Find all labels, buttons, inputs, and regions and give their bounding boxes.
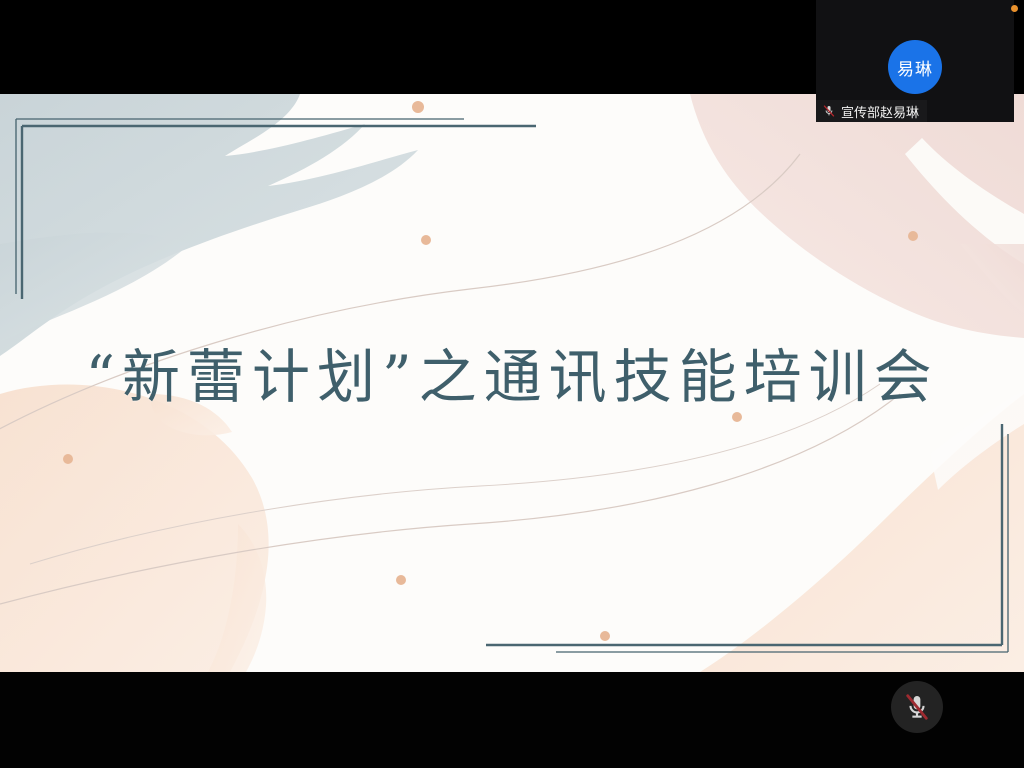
participant-video-tile[interactable]: 易琳 宣传部赵易琳: [816, 0, 1014, 122]
mic-off-icon: [822, 104, 836, 118]
conference-stage: “新蕾计划”之通讯技能培训会 易琳 宣传部赵易琳: [0, 0, 1024, 768]
conference-toolbar-bar: [0, 672, 1024, 768]
participant-name: 宣传部赵易琳: [841, 102, 919, 121]
mute-button[interactable]: [891, 681, 943, 733]
participant-name-bar: 宣传部赵易琳: [816, 100, 927, 122]
recording-dot-icon: [1011, 5, 1018, 12]
mic-off-icon: [902, 692, 932, 722]
slide-title: “新蕾计划”之通讯技能培训会: [0, 330, 1024, 414]
avatar: 易琳: [888, 40, 942, 94]
shared-slide[interactable]: “新蕾计划”之通讯技能培训会: [0, 94, 1024, 672]
